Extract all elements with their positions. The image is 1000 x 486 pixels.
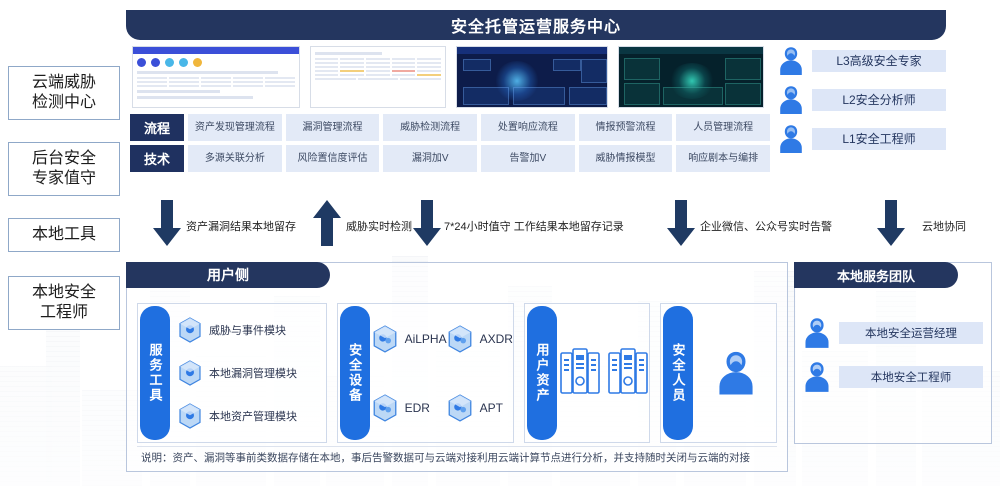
list-item-label: EDR — [405, 401, 430, 415]
group-security-personnel: 安全人员 — [660, 303, 777, 443]
local-team-members: 本地安全运营经理 本地安全工程师 — [803, 311, 983, 399]
left-rail: 云端威胁 检测中心 后台安全 专家值守 本地工具 本地安全 工程师 — [8, 66, 120, 352]
team-row-manager: 本地安全运营经理 — [803, 311, 983, 355]
team-member-label[interactable]: 本地安全运营经理 — [839, 322, 983, 344]
list-item[interactable]: 本地漏洞管理模块 — [178, 351, 320, 394]
matrix-row-process: 流程 资产发现管理流程 漏洞管理流程 威胁检测流程 处置响应流程 情报预警流程 … — [130, 114, 770, 141]
local-service-team-panel: 本地服务团队 本地安全运营经理 本地安全工程师 — [794, 262, 992, 444]
rail-item-local-tools[interactable]: 本地工具 — [8, 218, 120, 252]
list-item-label: AiLPHA — [405, 332, 447, 346]
list-item-label: APT — [480, 401, 503, 415]
flow-label-wechat-alert: 企业微信、公众号实时告警 — [700, 218, 832, 234]
dashboard-screenshot-strip — [132, 46, 764, 108]
person-icon — [778, 46, 804, 76]
staff-label[interactable]: L1安全工程师 — [812, 128, 946, 150]
list-item[interactable]: APT — [447, 394, 513, 422]
server-icon — [607, 347, 649, 399]
arrow-down-icon — [412, 200, 442, 248]
staff-label[interactable]: L2安全分析师 — [812, 89, 946, 111]
user-side-title: 用户侧 — [126, 262, 330, 288]
group-security-devices: 安全设备 AiLPHA AXDR — [337, 303, 514, 443]
group-label-security-personnel: 安全人员 — [663, 306, 693, 440]
note-text: 说明：资产、漏洞等事前类数据存储在本地，事后告警数据可与云端对接利用云端计算节点… — [141, 450, 750, 465]
matrix-cell[interactable]: 威胁情报模型 — [579, 145, 673, 172]
soc-staff-list: L3高级安全专家 L2安全分析师 L1安全工程师 — [778, 44, 946, 161]
user-side-title-label: 用户侧 — [207, 265, 249, 285]
staff-row-l2: L2安全分析师 — [778, 83, 946, 116]
arrow-up-icon — [312, 200, 342, 248]
person-icon — [716, 350, 756, 396]
person-icon — [803, 361, 831, 393]
security-operation-center-panel: 安全托管运营服务中心 — [126, 10, 946, 192]
list-item[interactable]: EDR — [372, 394, 447, 422]
team-member-label[interactable]: 本地安全工程师 — [839, 366, 983, 388]
staff-row-l1: L1安全工程师 — [778, 122, 946, 155]
matrix-row-key: 技术 — [130, 145, 184, 172]
cube-icon — [372, 394, 398, 422]
matrix-cell[interactable]: 多源关联分析 — [188, 145, 282, 172]
arrow-down-icon — [876, 200, 906, 248]
matrix-cell[interactable]: 风险置信度评估 — [286, 145, 380, 172]
list-item[interactable]: 本地资产管理模块 — [178, 395, 320, 438]
rail-label: 本地安全 工程师 — [32, 284, 96, 321]
flow-label-threat-realtime: 威胁实时检测 — [346, 218, 412, 234]
rail-item-cloud-threat-detection-center[interactable]: 云端威胁 检测中心 — [8, 66, 120, 120]
rail-label: 后台安全 专家值守 — [32, 150, 96, 187]
user-side-panel: 用户侧 服务工具 威胁与事件模块 — [126, 262, 788, 472]
staff-label[interactable]: L3高级安全专家 — [812, 50, 946, 72]
arrow-down-icon — [666, 200, 696, 248]
cube-icon — [447, 325, 473, 353]
matrix-cell[interactable]: 漏洞管理流程 — [286, 114, 380, 141]
flow-arrows: 资产漏洞结果本地留存 威胁实时检测 7*24小时值守 工作结果本地留存记录 企业… — [126, 196, 1000, 258]
banner-title: 安全托管运营服务中心 — [451, 13, 621, 37]
user-side-note: 说明：资产、漏洞等事前类数据存储在本地，事后告警数据可与云端对接利用云端计算节点… — [137, 446, 777, 467]
matrix-cell[interactable]: 响应剧本与编排 — [676, 145, 770, 172]
local-team-title: 本地服务团队 — [794, 262, 958, 288]
group-label-service-tools: 服务工具 — [140, 306, 170, 440]
server-icon — [559, 347, 601, 399]
group-user-assets: 用户资产 — [524, 303, 650, 443]
matrix-row-technology: 技术 多源关联分析 风险置信度评估 漏洞加V 告警加V 威胁情报模型 响应剧本与… — [130, 145, 770, 172]
rail-item-backend-security-expert-duty[interactable]: 后台安全 专家值守 — [8, 142, 120, 196]
matrix-cell[interactable]: 情报预警流程 — [579, 114, 673, 141]
matrix-cell[interactable]: 威胁检测流程 — [383, 114, 477, 141]
group-label-security-devices: 安全设备 — [340, 306, 370, 440]
list-item-label: 威胁与事件模块 — [209, 322, 286, 338]
team-row-engineer: 本地安全工程师 — [803, 355, 983, 399]
rail-label: 云端威胁 检测中心 — [32, 74, 96, 111]
threat-monitor-screenshot[interactable] — [618, 46, 764, 108]
matrix-row-key: 流程 — [130, 114, 184, 141]
flow-label-cloud-ground-collab: 云地协同 — [922, 218, 966, 234]
rail-label: 本地工具 — [32, 226, 96, 243]
matrix-cell[interactable]: 资产发现管理流程 — [188, 114, 282, 141]
matrix-cell[interactable]: 告警加V — [481, 145, 575, 172]
panel-banner: 安全托管运营服务中心 — [126, 10, 946, 40]
process-technology-matrix: 流程 资产发现管理流程 漏洞管理流程 威胁检测流程 处置响应流程 情报预警流程 … — [130, 114, 770, 176]
cube-icon — [178, 317, 202, 343]
user-side-groups: 服务工具 威胁与事件模块 本地漏洞管理模块 — [137, 303, 777, 443]
flow-label-24x7-duty: 7*24小时值守 工作结果本地留存记录 — [444, 218, 624, 234]
matrix-cell[interactable]: 处置响应流程 — [481, 114, 575, 141]
cube-icon — [178, 403, 202, 429]
matrix-cell[interactable]: 漏洞加V — [383, 145, 477, 172]
cube-icon — [372, 325, 398, 353]
situation-awareness-screenshot[interactable] — [456, 46, 608, 108]
list-item-label: 本地资产管理模块 — [209, 408, 297, 424]
person-icon — [803, 317, 831, 349]
arrow-down-icon — [152, 200, 182, 248]
cube-icon — [178, 360, 202, 386]
matrix-cell[interactable]: 人员管理流程 — [676, 114, 770, 141]
cube-icon — [447, 394, 473, 422]
flow-label-asset-vuln-local: 资产漏洞结果本地留存 — [186, 218, 296, 234]
vulnerability-list-screenshot[interactable] — [310, 46, 446, 108]
person-icon — [778, 124, 804, 154]
list-item[interactable]: 威胁与事件模块 — [178, 308, 320, 351]
group-label-user-assets: 用户资产 — [527, 306, 557, 440]
list-item[interactable]: AXDR — [447, 325, 513, 353]
rail-item-local-security-engineer[interactable]: 本地安全 工程师 — [8, 276, 120, 330]
list-item-label: 本地漏洞管理模块 — [209, 365, 297, 381]
group-service-tools: 服务工具 威胁与事件模块 本地漏洞管理模块 — [137, 303, 327, 443]
list-item[interactable]: AiLPHA — [372, 325, 447, 353]
local-team-title-label: 本地服务团队 — [837, 266, 915, 285]
asset-dashboard-screenshot[interactable] — [132, 46, 300, 108]
staff-row-l3: L3高级安全专家 — [778, 44, 946, 77]
person-icon — [778, 85, 804, 115]
list-item-label: AXDR — [480, 332, 513, 346]
